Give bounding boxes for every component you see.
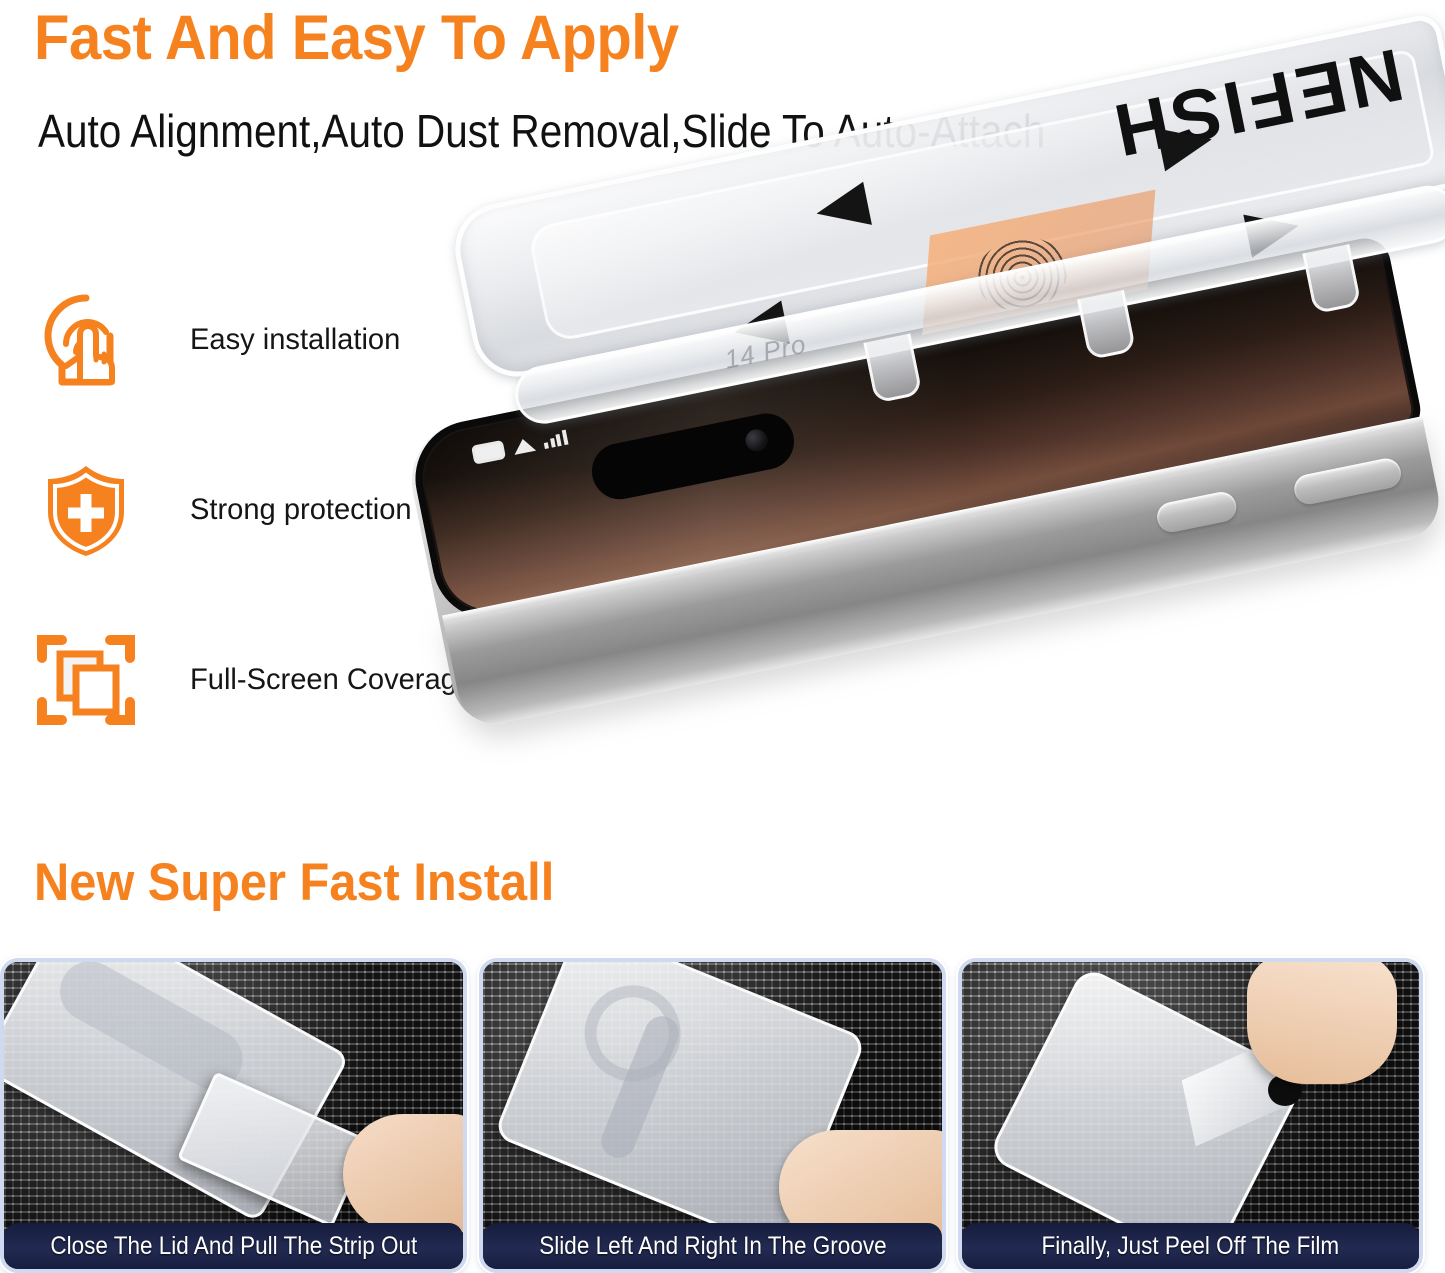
install-steps: Close The Lid And Pull The Strip Out Sli…	[0, 958, 1445, 1273]
install-section-title: New Super Fast Install	[34, 852, 554, 913]
step-caption-1: Close The Lid And Pull The Strip Out	[4, 1223, 463, 1269]
page-title: Fast And Easy To Apply	[34, 2, 679, 74]
hand-photo	[343, 1114, 467, 1234]
product-marketing-image: Fast And Easy To Apply Auto Alignment,Au…	[0, 0, 1445, 1273]
feature-label: Strong protection	[190, 493, 412, 527]
step-panel-1: Close The Lid And Pull The Strip Out	[0, 958, 467, 1273]
step-caption-2: Slide Left And Right In The Groove	[483, 1223, 942, 1269]
full-screen-coverage-icon	[36, 630, 140, 730]
step-caption-3: Finally, Just Peel Off The Film	[962, 1223, 1419, 1269]
hero-product-illustration: NEFISH 14 Pro	[420, 180, 1445, 820]
step-caption-text: Close The Lid And Pull The Strip Out	[50, 1232, 417, 1261]
hand-photo	[1247, 958, 1397, 1084]
step-caption-text: Finally, Just Peel Off The Film	[1042, 1232, 1340, 1261]
power-button	[1292, 456, 1404, 507]
step-panel-3: Finally, Just Peel Off The Film	[958, 958, 1423, 1273]
model-label: 14 Pro	[722, 329, 809, 376]
volume-button	[1155, 489, 1239, 534]
step-caption-text: Slide Left And Right In The Groove	[539, 1232, 886, 1261]
step-panel-2: Slide Left And Right In The Groove	[479, 958, 946, 1273]
touch-gesture-icon	[36, 290, 140, 390]
feature-label: Easy installation	[190, 323, 400, 357]
shield-plus-icon	[36, 460, 140, 560]
